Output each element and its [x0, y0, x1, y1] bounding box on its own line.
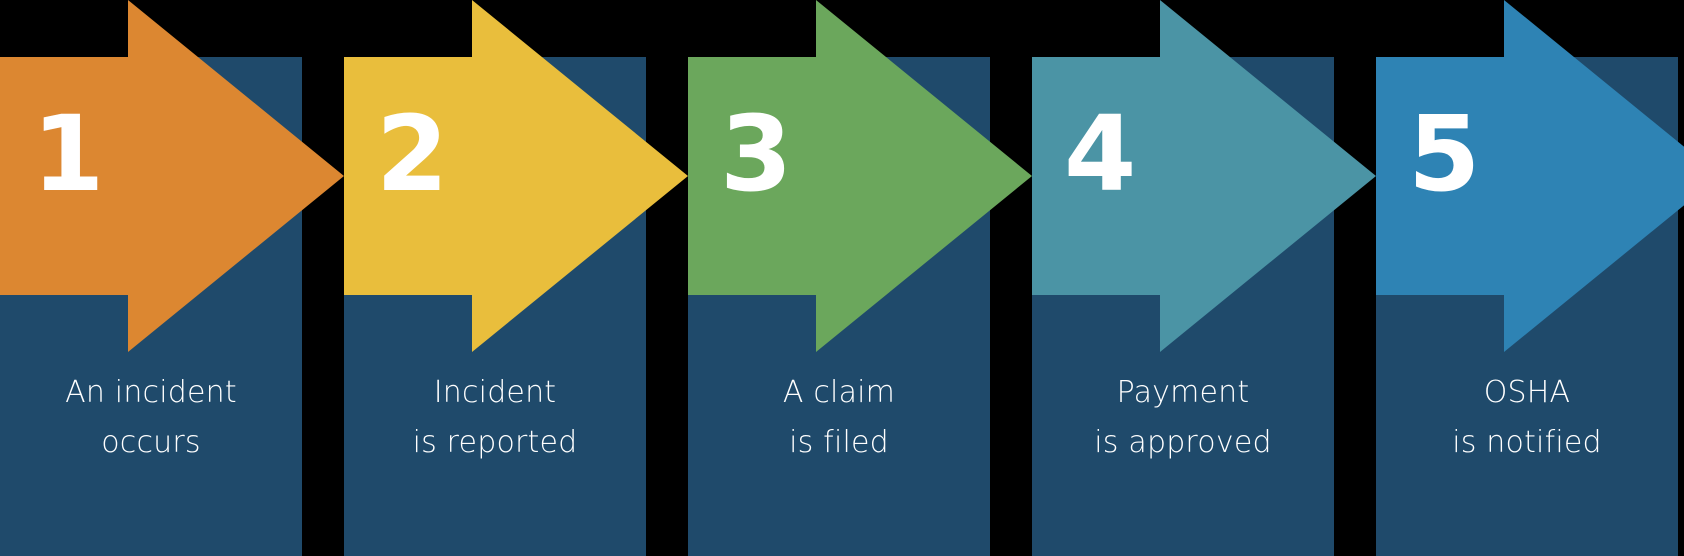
step-4-graphic [1032, 0, 1376, 556]
step-5-caption-line-1: OSHA [1376, 368, 1678, 418]
step-4-caption-line-2: is approved [1032, 418, 1334, 468]
step-1-graphic [0, 0, 344, 556]
step-3-graphic [688, 0, 1032, 556]
process-step-5: 5 OSHA is notified [1376, 0, 1684, 556]
step-5-caption-line-2: is notified [1376, 418, 1678, 468]
process-step-3: 3 A claim is filed [688, 0, 1032, 556]
process-step-1: 1 An incident occurs [0, 0, 344, 556]
step-3-caption: A claim is filed [688, 368, 990, 468]
step-1-caption: An incident occurs [0, 368, 302, 468]
step-2-caption-line-2: is reported [344, 418, 646, 468]
step-3-caption-line-2: is filed [688, 418, 990, 468]
step-4-caption: Payment is approved [1032, 368, 1334, 468]
process-step-2: 2 Incident is reported [344, 0, 688, 556]
process-step-4: 4 Payment is approved [1032, 0, 1376, 556]
step-2-graphic [344, 0, 688, 556]
step-3-caption-line-1: A claim [688, 368, 990, 418]
step-1-caption-line-2: occurs [0, 418, 302, 468]
step-1-caption-line-1: An incident [0, 368, 302, 418]
step-4-caption-line-1: Payment [1032, 368, 1334, 418]
process-flow-infographic: 1 An incident occurs 2 Incident is repor… [0, 0, 1684, 556]
step-5-caption: OSHA is notified [1376, 368, 1678, 468]
step-2-caption-line-1: Incident [344, 368, 646, 418]
step-5-graphic [1376, 0, 1684, 556]
step-2-caption: Incident is reported [344, 368, 646, 468]
